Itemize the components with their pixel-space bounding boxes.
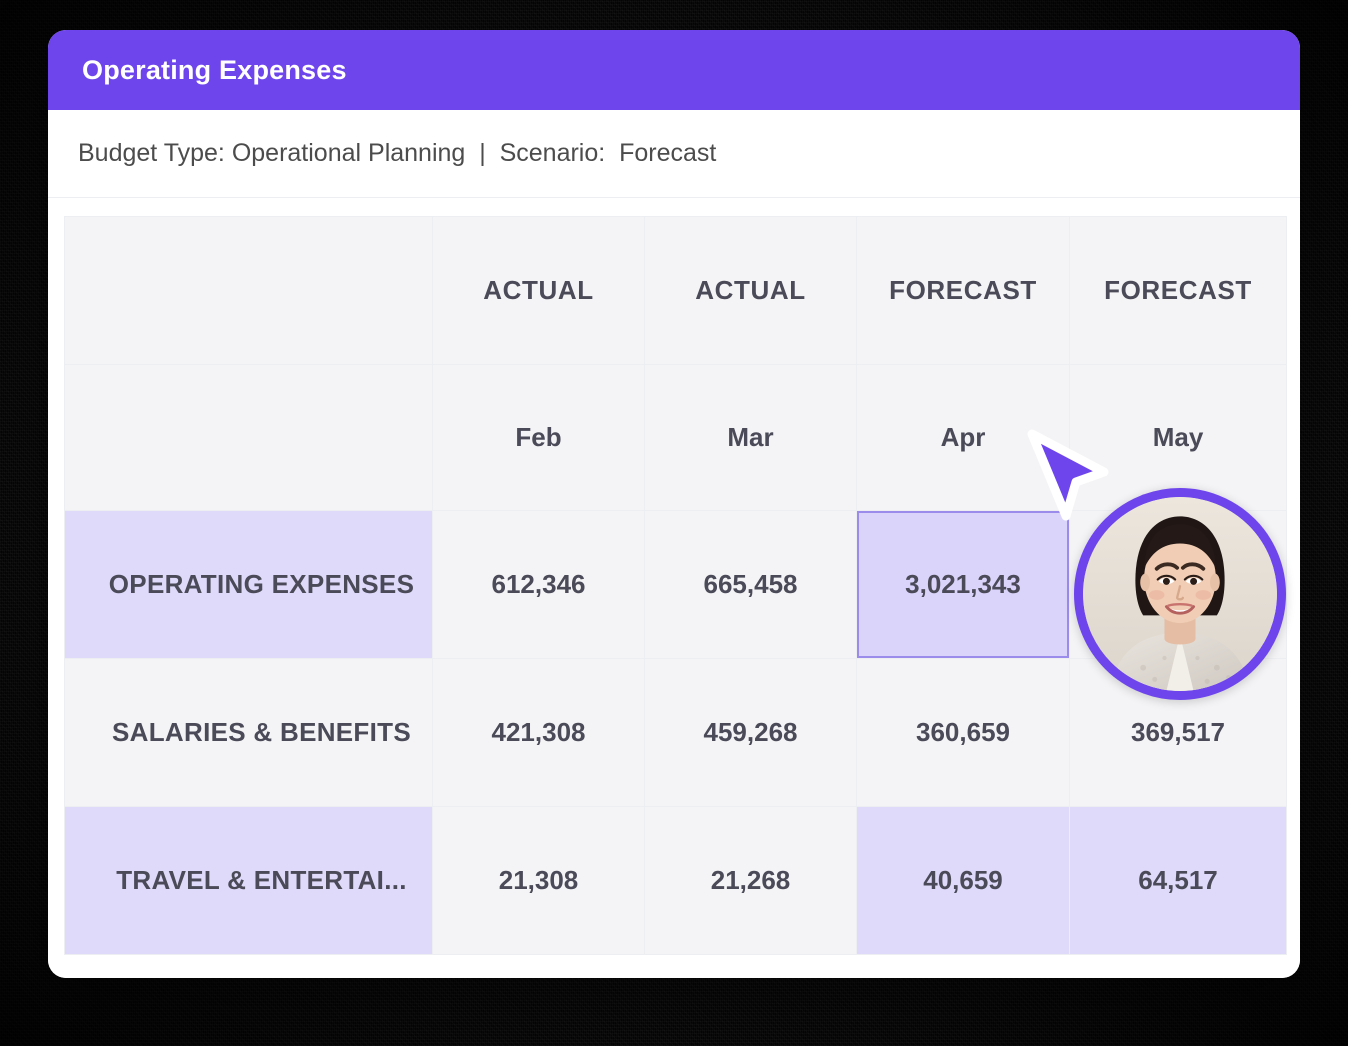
table-row: SALARIES & BENEFITS 421,308 459,268 360,… [65, 659, 1287, 807]
cell-operating-expenses-mar[interactable]: 665,458 [645, 511, 857, 659]
cell-travel-entertainment-apr[interactable]: 40,659 [857, 807, 1070, 955]
screenshot-stage: Operating Expenses Budget Type: Operatio… [0, 0, 1348, 1046]
row-label-salaries-benefits[interactable]: SALARIES & BENEFITS [65, 659, 433, 807]
cell-salaries-benefits-mar[interactable]: 459,268 [645, 659, 857, 807]
month-header-apr[interactable]: Apr [857, 365, 1070, 511]
card-header: Operating Expenses [48, 30, 1300, 110]
table-row: TRAVEL & ENTERTAI... 21,308 21,268 40,65… [65, 807, 1287, 955]
cell-travel-entertainment-feb[interactable]: 21,308 [433, 807, 645, 955]
cell-operating-expenses-apr[interactable]: 3,021,343 [857, 511, 1070, 659]
period-header-may: FORECAST [1070, 217, 1287, 365]
period-header-feb: ACTUAL [433, 217, 645, 365]
cell-operating-expenses-feb[interactable]: 612,346 [433, 511, 645, 659]
card-subtitle-bar: Budget Type: Operational Planning | Scen… [48, 110, 1300, 198]
operating-expenses-card: Operating Expenses Budget Type: Operatio… [48, 30, 1300, 978]
table-period-header-row: ACTUAL ACTUAL FORECAST FORECAST [65, 217, 1287, 365]
period-header-apr: FORECAST [857, 217, 1070, 365]
month-header-corner [65, 365, 433, 511]
page-title: Operating Expenses [82, 55, 347, 86]
cell-salaries-benefits-feb[interactable]: 421,308 [433, 659, 645, 807]
table-month-header-row: Feb Mar Apr May [65, 365, 1287, 511]
row-label-travel-entertainment[interactable]: TRAVEL & ENTERTAI... [65, 807, 433, 955]
month-header-feb[interactable]: Feb [433, 365, 645, 511]
cell-travel-entertainment-may[interactable]: 64,517 [1070, 807, 1287, 955]
period-header-mar: ACTUAL [645, 217, 857, 365]
month-header-mar[interactable]: Mar [645, 365, 857, 511]
period-header-corner [65, 217, 433, 365]
user-avatar-photo[interactable] [1074, 488, 1286, 700]
budget-scenario-summary: Budget Type: Operational Planning | Scen… [78, 139, 716, 168]
row-label-operating-expenses[interactable]: OPERATING EXPENSES [65, 511, 433, 659]
cell-salaries-benefits-apr[interactable]: 360,659 [857, 659, 1070, 807]
cell-travel-entertainment-mar[interactable]: 21,268 [645, 807, 857, 955]
